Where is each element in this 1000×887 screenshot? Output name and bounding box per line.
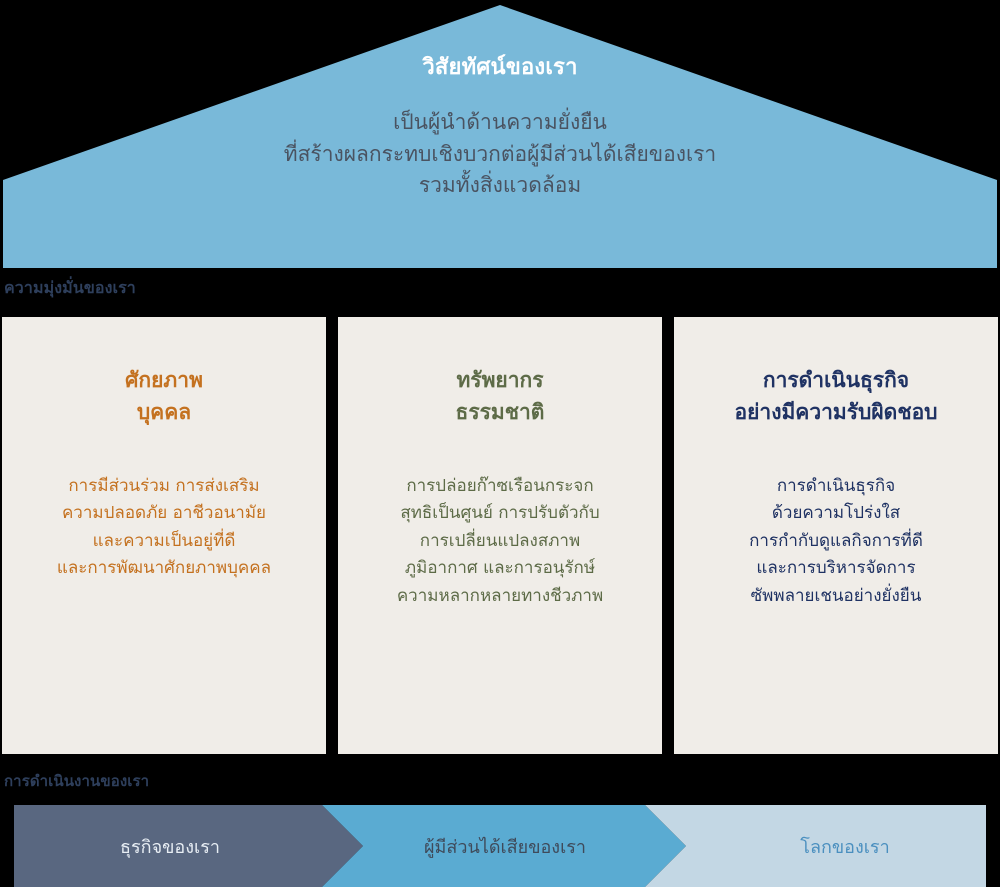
pillar-body-line: การดำเนินธุรกิจ: [749, 473, 923, 501]
operations-section-label: การดำเนินงานของเรา: [4, 769, 149, 793]
pillar-body-line: และการพัฒนาศักยภาพบุคคล: [57, 555, 271, 583]
pillar-body-line: การมีส่วนร่วม การส่งเสริม: [57, 473, 271, 501]
pillar-title-line: ธรรมชาติ: [456, 397, 545, 429]
flow-step-label-business: ธุรกิจของเรา: [0, 805, 340, 887]
pillar-title-people: ศักยภาพ บุคคล: [125, 365, 203, 429]
pillar-body-line: ด้วยความโปร่งใส: [749, 500, 923, 528]
pillar-body-line: สุทธิเป็นศูนย์ การปรับตัวกับ: [397, 500, 603, 528]
flow-step-label-stakeholders: ผู้มีส่วนได้เสียของเรา: [345, 805, 665, 887]
vision-roof: วิสัยทัศน์ของเรา เป็นผู้นำด้านความยั่งยื…: [0, 0, 1000, 270]
pillar-body-line: ภูมิอากาศ และการอนุรักษ์: [397, 555, 603, 583]
vision-title: วิสัยทัศน์ของเรา: [422, 54, 577, 83]
pillar-body-nature: การปล่อยก๊าซเรือนกระจก สุทธิเป็นศูนย์ กา…: [397, 473, 603, 611]
pillar-body-line: และการบริหารจัดการ: [749, 555, 923, 583]
pillar-body-line: ความหลากหลายทางชีวภาพ: [397, 583, 603, 611]
infographic-canvas: วิสัยทัศน์ของเรา เป็นผู้นำด้านความยั่งยื…: [0, 0, 1000, 887]
pillar-body-line: ความปลอดภัย อาชีวอนามัย: [57, 500, 271, 528]
pillar-body-governance: การดำเนินธุรกิจ ด้วยความโปร่งใส การกำกับ…: [749, 473, 923, 611]
pillar-title-line: ทรัพยากร: [456, 365, 545, 397]
pillar-cards: ศักยภาพ บุคคล การมีส่วนร่วม การส่งเสริม …: [2, 317, 998, 754]
pillar-title-line: อย่างมีความรับผิดชอบ: [734, 397, 937, 429]
pillar-title-nature: ทรัพยากร ธรรมชาติ: [456, 365, 545, 429]
vision-line: ที่สร้างผลกระทบเชิงบวกต่อผู้มีส่วนได้เสี…: [284, 139, 716, 171]
pillar-body-people: การมีส่วนร่วม การส่งเสริม ความปลอดภัย อา…: [57, 473, 271, 583]
operations-flow: ธุรกิจของเรา ผู้มีส่วนได้เสียของเรา โลกข…: [0, 805, 1000, 887]
commitment-section-label: ความมุ่งมั่นของเรา: [4, 276, 136, 301]
pillar-body-line: การปล่อยก๊าซเรือนกระจก: [397, 473, 603, 501]
pillar-body-line: และความเป็นอยู่ที่ดี: [57, 528, 271, 556]
pillar-title-line: บุคคล: [125, 397, 203, 429]
flow-step-label-planet: โลกของเรา: [690, 805, 1000, 887]
pillar-body-line: การเปลี่ยนแปลงสภาพ: [397, 528, 603, 556]
vision-body: เป็นผู้นำด้านความยั่งยืน ที่สร้างผลกระทบ…: [284, 107, 716, 203]
flow-label-layer: ธุรกิจของเรา ผู้มีส่วนได้เสียของเรา โลกข…: [0, 805, 1000, 887]
pillar-title-line: ศักยภาพ: [125, 365, 203, 397]
pillar-card-people: ศักยภาพ บุคคล การมีส่วนร่วม การส่งเสริม …: [2, 317, 326, 754]
vision-line: รวมทั้งสิ่งแวดล้อม: [284, 170, 716, 202]
pillar-title-governance: การดำเนินธุรกิจ อย่างมีความรับผิดชอบ: [734, 365, 937, 429]
pillar-card-governance: การดำเนินธุรกิจ อย่างมีความรับผิดชอบ การ…: [674, 317, 998, 754]
vision-line: เป็นผู้นำด้านความยั่งยืน: [284, 107, 716, 139]
roof-text-block: วิสัยทัศน์ของเรา เป็นผู้นำด้านความยั่งยื…: [0, 0, 1000, 270]
pillar-body-line: ซัพพลายเชนอย่างยั่งยืน: [749, 583, 923, 611]
pillar-title-line: การดำเนินธุรกิจ: [734, 365, 937, 397]
pillar-card-nature: ทรัพยากร ธรรมชาติ การปล่อยก๊าซเรือนกระจก…: [338, 317, 662, 754]
pillar-body-line: การกำกับดูแลกิจการที่ดี: [749, 528, 923, 556]
